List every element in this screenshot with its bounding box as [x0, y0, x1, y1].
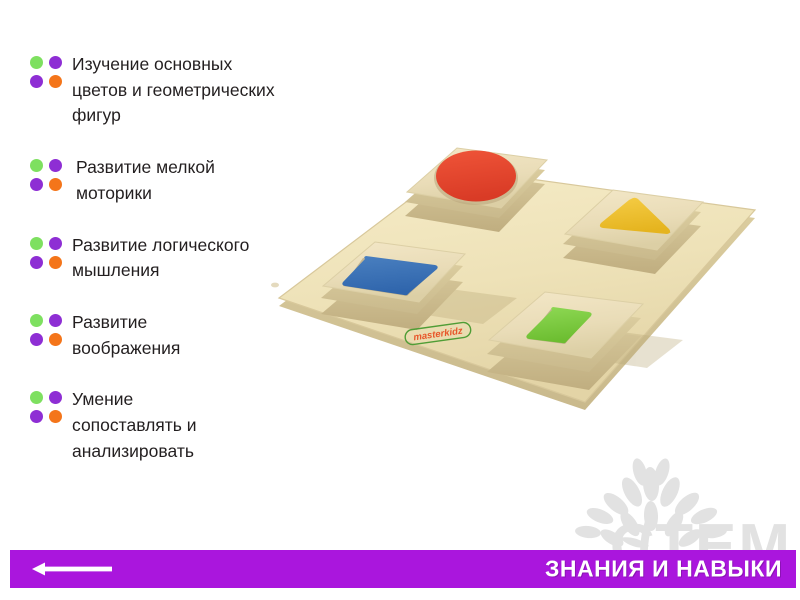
dot-purple-icon — [49, 391, 62, 404]
bullet-dots-icon — [30, 391, 64, 425]
slide-canvas: СТЕМ Изучение основных цветов и геометри… — [0, 0, 800, 600]
dot-purple-icon — [30, 333, 43, 346]
feature-text: Изучение основных цветов и геометрически… — [64, 52, 275, 129]
bullet-dots-icon — [30, 56, 64, 90]
dot-purple-icon — [30, 256, 43, 269]
bullet-dots-icon — [30, 159, 64, 193]
bullet-dots-icon — [30, 314, 64, 348]
bottom-bar: ЗНАНИЯ И НАВЫКИ — [10, 550, 796, 588]
feature-text: Развитие воображения — [64, 310, 180, 361]
product-image: masterkidz — [255, 110, 775, 450]
dot-purple-icon — [49, 237, 62, 250]
red-circle-shape — [436, 151, 516, 202]
back-arrow-icon[interactable] — [32, 562, 112, 576]
dot-purple-icon — [30, 178, 43, 191]
dot-purple-icon — [49, 314, 62, 327]
dot-purple-icon — [30, 75, 43, 88]
dot-orange-icon — [49, 75, 62, 88]
bullet-dots-icon — [30, 237, 64, 271]
feature-text: Развитие мелкой моторики — [64, 155, 215, 206]
dot-green-icon — [30, 237, 43, 250]
dot-orange-icon — [49, 410, 62, 423]
dot-orange-icon — [49, 178, 62, 191]
dot-green-icon — [30, 56, 43, 69]
dot-green-icon — [30, 159, 43, 172]
dot-green-icon — [30, 391, 43, 404]
dot-green-icon — [30, 314, 43, 327]
feature-text: Развитие логического мышления — [64, 233, 249, 284]
bottom-bar-title: ЗНАНИЯ И НАВЫКИ — [545, 556, 782, 583]
dot-purple-icon — [49, 159, 62, 172]
dot-orange-icon — [49, 333, 62, 346]
feature-text: Умение сопоставлять и анализировать — [64, 387, 197, 464]
dot-purple-icon — [49, 56, 62, 69]
dot-orange-icon — [49, 256, 62, 269]
dot-purple-icon — [30, 410, 43, 423]
